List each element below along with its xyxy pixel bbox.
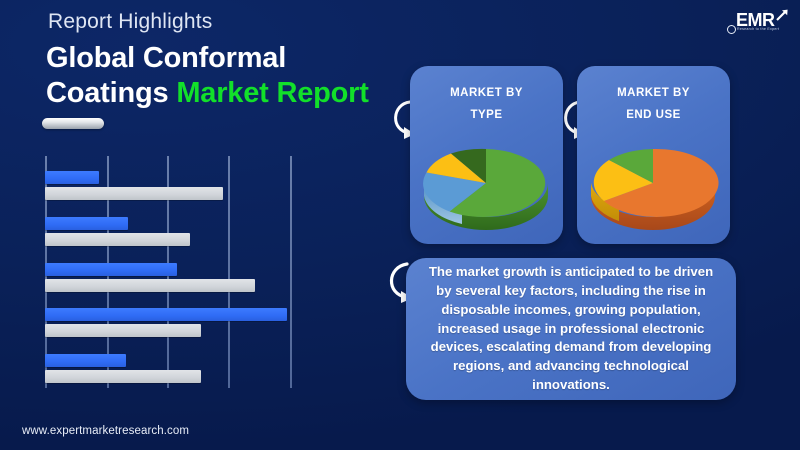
bar-series-a [45, 308, 287, 321]
market-summary-text: The market growth is anticipated to be d… [406, 263, 736, 394]
panel-title-line-2: TYPE [470, 109, 502, 121]
gridline [290, 156, 292, 388]
panel-market-by-end-use[interactable]: MARKET BY END USE [577, 66, 730, 244]
panel-market-by-type[interactable]: MARKET BY TYPE [410, 66, 563, 244]
panel-market-summary[interactable]: The market growth is anticipated to be d… [406, 258, 736, 400]
bar-series-b [45, 324, 201, 337]
bar-series-a [45, 171, 99, 184]
bar-series-a [45, 263, 177, 276]
bar-series-b [45, 370, 201, 383]
bar-series-b [45, 233, 190, 246]
logo-ring-icon [727, 25, 736, 34]
bar-series-a [45, 217, 128, 230]
eyebrow-label: Report Highlights [48, 10, 212, 34]
infographic-canvas: Report Highlights Global Conformal Coati… [0, 0, 800, 450]
title-line-1: Global Conformal [46, 42, 286, 74]
logo-tagline: Research to the Expert [737, 27, 779, 31]
growth-arrow-icon [774, 7, 790, 23]
bar-series-b [45, 187, 223, 200]
panel-title-line-1: MARKET BY [617, 87, 690, 99]
bar-chart [38, 156, 306, 388]
gridline [228, 156, 230, 388]
footer-url[interactable]: www.expertmarketresearch.com [22, 425, 189, 437]
bar-series-a [45, 354, 126, 367]
bar-series-b [45, 279, 255, 292]
panel-title-market-by-end-use: MARKET BY END USE [577, 82, 730, 127]
title-line-2-plain: Coatings [46, 77, 176, 109]
title-underline-pill [42, 118, 104, 129]
panel-title-market-by-type: MARKET BY TYPE [410, 82, 563, 127]
emr-logo[interactable]: EMR Research to the Expert [720, 6, 792, 40]
panel-title-line-2: END USE [626, 109, 681, 121]
title-line-2-accent: Market Report [176, 77, 368, 109]
panel-title-line-1: MARKET BY [450, 87, 523, 99]
pie-chart-market-by-type [410, 128, 563, 236]
page-title: Global Conformal Coatings Market Report [46, 41, 406, 112]
pie-chart-market-by-end-use [577, 128, 730, 236]
